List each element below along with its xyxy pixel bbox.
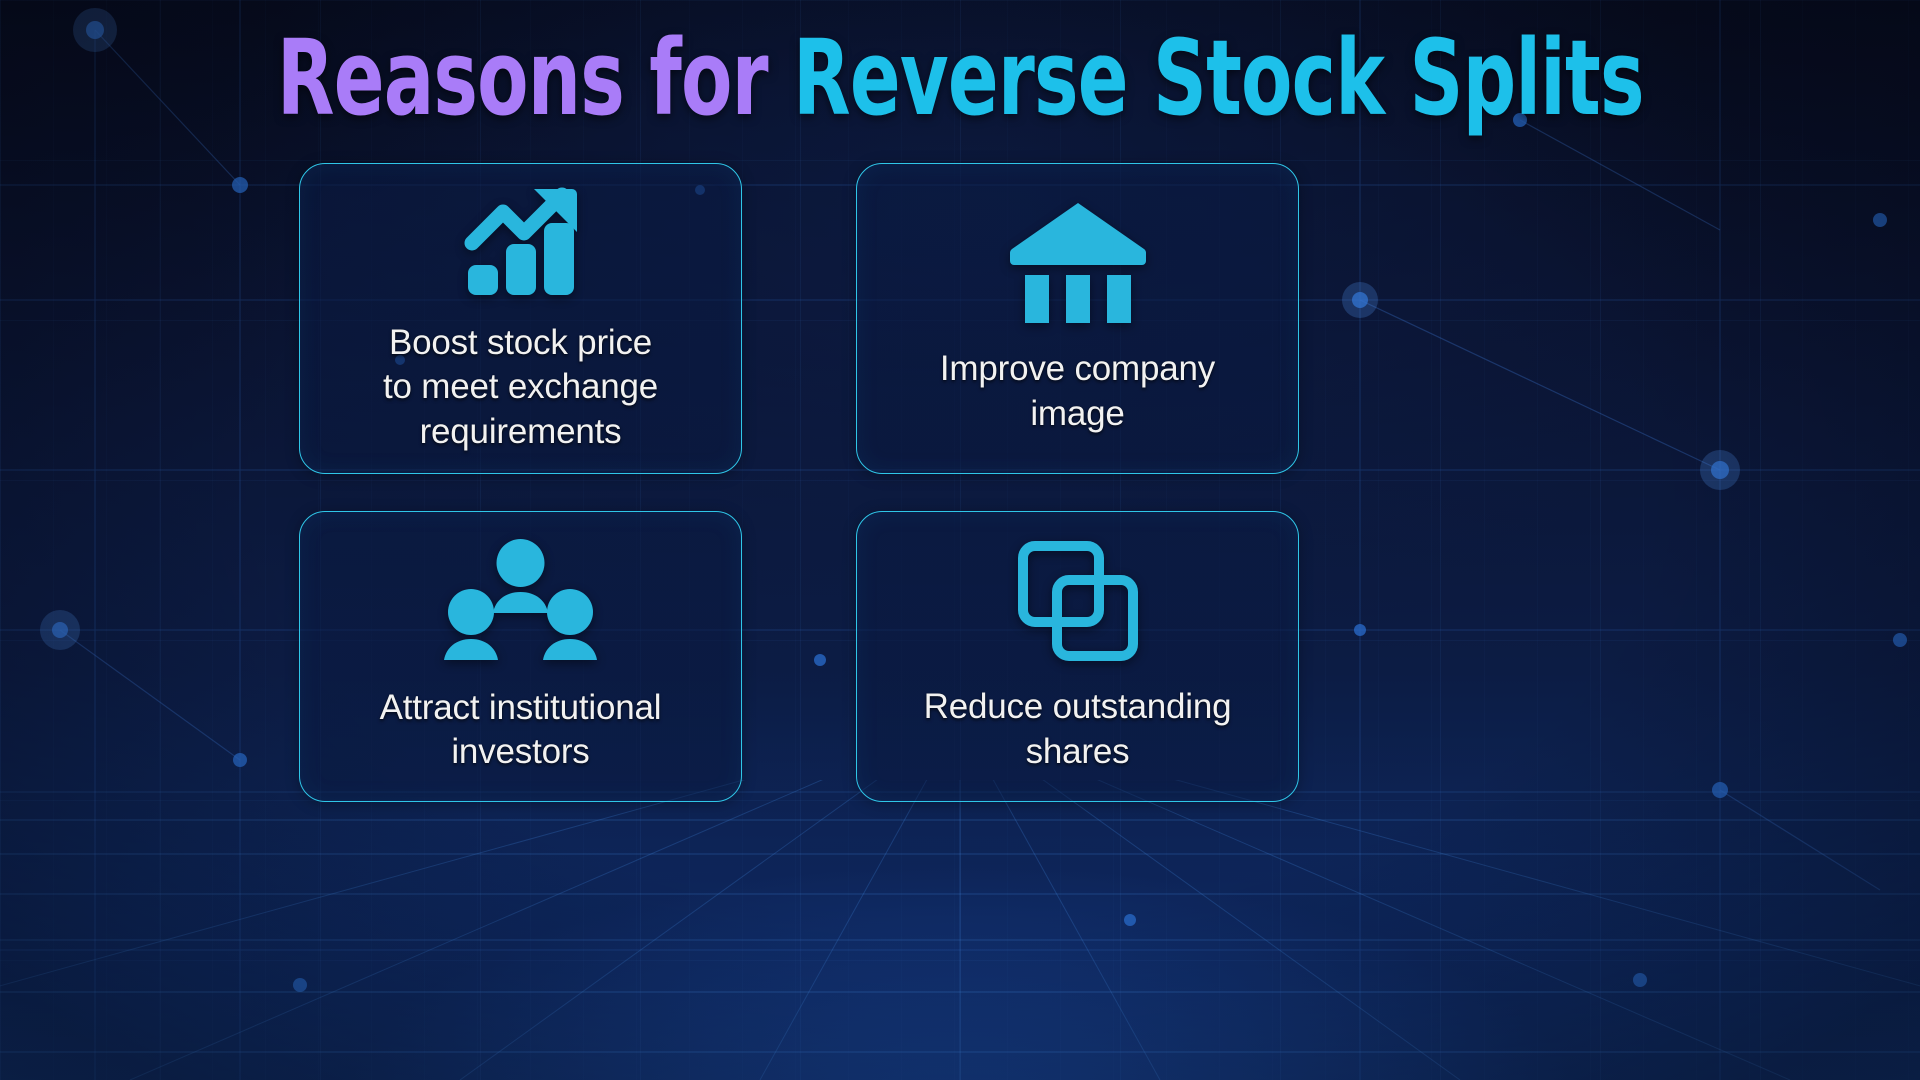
card-reduce-outstanding-shares[interactable]: Reduce outstanding shares xyxy=(856,511,1299,802)
title-part-cyan: Reverse Stock Splits xyxy=(793,17,1644,139)
card-label: Improve company image xyxy=(940,347,1215,436)
card-label: Boost stock price to meet exchange requi… xyxy=(383,321,658,454)
perspective-floor-grid xyxy=(0,780,1920,1080)
overlapping-squares-icon xyxy=(1016,539,1140,663)
card-label: Attract institutional investors xyxy=(380,686,662,775)
people-group-icon xyxy=(443,539,598,664)
card-label: Reduce outstanding shares xyxy=(924,685,1232,774)
bank-building-icon xyxy=(1008,201,1148,323)
infographic-canvas: Reasons for Reverse Stock Splits xyxy=(0,0,1920,1080)
title-part-purple: Reasons for xyxy=(277,17,793,139)
card-boost-stock-price[interactable]: Boost stock price to meet exchange requi… xyxy=(299,163,742,474)
card-attract-institutional-investors[interactable]: Attract institutional investors xyxy=(299,511,742,802)
page-title: Reasons for Reverse Stock Splits xyxy=(0,26,1920,130)
reasons-card-grid: Boost stock price to meet exchange requi… xyxy=(299,163,1621,803)
bar-chart-up-icon xyxy=(462,183,580,301)
card-improve-company-image[interactable]: Improve company image xyxy=(856,163,1299,474)
